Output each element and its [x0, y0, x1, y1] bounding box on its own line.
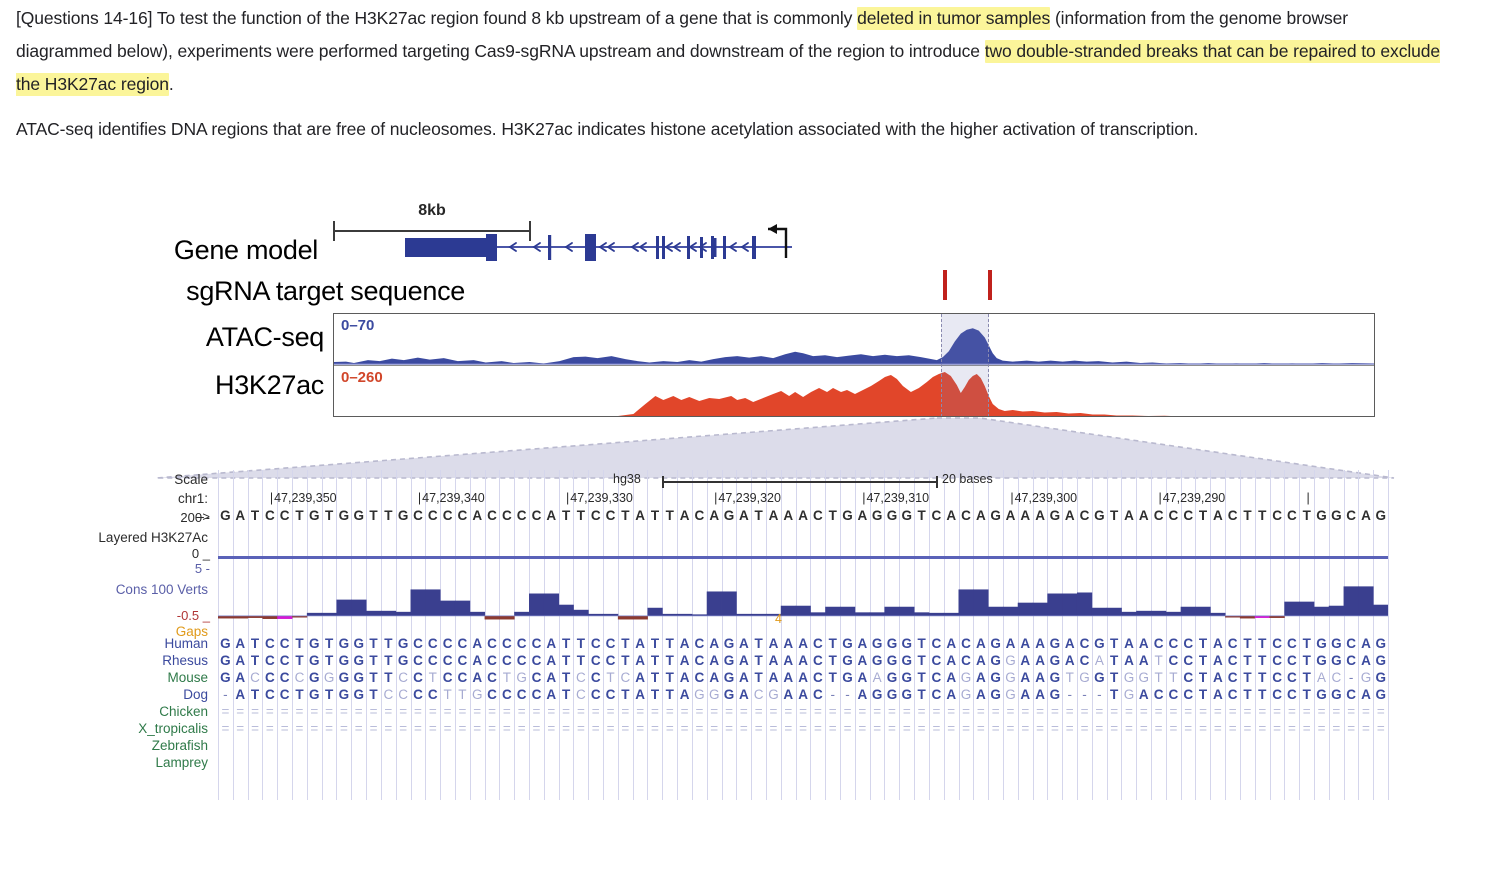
alignment-base: T: [322, 687, 337, 704]
conservation-bar: [633, 616, 648, 620]
reference-base: T: [1255, 508, 1270, 525]
alignment-base: =: [292, 704, 307, 721]
alignment-base: =: [929, 721, 944, 738]
alignment-base: =: [751, 721, 766, 738]
h3k27ac-track: 0–260: [334, 366, 1374, 417]
alignment-base: G: [337, 636, 352, 653]
alignment-base: C: [588, 653, 603, 670]
alignment-base: =: [1270, 721, 1285, 738]
conservation-bar: [796, 606, 811, 616]
reference-base: T: [366, 508, 381, 525]
alignment-base: T: [825, 670, 840, 687]
alignment-base: A: [1018, 636, 1033, 653]
alignment-base: =: [544, 704, 559, 721]
alignment-base: =: [1299, 704, 1314, 721]
alignment-base: C: [455, 636, 470, 653]
alignment-base: =: [425, 704, 440, 721]
alignment-base: =: [1255, 721, 1270, 738]
alignment-base: T: [1240, 687, 1255, 704]
alignment-base: T: [381, 653, 396, 670]
alignment-base: =: [1373, 721, 1388, 738]
alignment-base: T: [1107, 636, 1122, 653]
conservation-bar: [959, 589, 974, 615]
conservation-bar: [618, 616, 633, 620]
alignment-base: T: [1196, 670, 1211, 687]
alignment-base: G: [218, 636, 233, 653]
alignment-base: T: [618, 653, 633, 670]
alignment-base: C: [396, 670, 411, 687]
alignment-base: T: [825, 636, 840, 653]
alignment-base: =: [322, 704, 337, 721]
reference-base: C: [692, 508, 707, 525]
conservation-bar: [381, 611, 396, 616]
alignment-base: G: [322, 670, 337, 687]
alignment-base: T: [1166, 670, 1181, 687]
alignment-base: C: [499, 636, 514, 653]
alignment-base: C: [811, 636, 826, 653]
alignment-base: G: [840, 653, 855, 670]
scale-bar-tick-left: [333, 221, 335, 241]
ruler-tick: 47,239,290: [1158, 491, 1225, 505]
alignment-base: =: [499, 721, 514, 738]
alignment-base: C: [425, 653, 440, 670]
reference-base: G: [1329, 508, 1344, 525]
alignment-base: G: [1359, 670, 1374, 687]
alignment-row-x_tropicalis: ========================================…: [218, 721, 1388, 738]
question-text-block: [Questions 14-16] To test the function o…: [16, 0, 1446, 146]
alignment-base: =: [248, 704, 263, 721]
label-sgrna-target-sequence: sgRNA target sequence: [0, 276, 465, 307]
alignment-base: T: [1151, 653, 1166, 670]
alignment-base: T: [499, 670, 514, 687]
alignment-base: C: [396, 687, 411, 704]
reference-base: A: [781, 508, 796, 525]
conservation-bar: [544, 594, 559, 616]
reference-base: C: [1225, 508, 1240, 525]
alignment-base: C: [499, 653, 514, 670]
alignment-base: G: [1122, 670, 1137, 687]
layered-h3k27ac-track-label: Layered H3K27Ac: [48, 530, 208, 545]
alignment-base: =: [1151, 721, 1166, 738]
alignment-base: A: [1018, 687, 1033, 704]
alignment-base: G: [307, 653, 322, 670]
alignment-base: =: [736, 721, 751, 738]
alignment-base: =: [648, 704, 663, 721]
alignment-base: A: [677, 687, 692, 704]
alignment-base: C: [811, 653, 826, 670]
alignment-base: G: [885, 687, 900, 704]
alignment-base: G: [337, 653, 352, 670]
alignment-base: C: [411, 687, 426, 704]
conservation-bar: [366, 611, 381, 616]
alignment-base: A: [1062, 636, 1077, 653]
alignment-base: -: [1062, 687, 1077, 704]
alignment-base: T: [574, 653, 589, 670]
reference-base: G: [351, 508, 366, 525]
alignment-base: =: [455, 704, 470, 721]
conservation-bar: [1033, 603, 1048, 616]
alignment-base: T: [914, 670, 929, 687]
alignment-base: T: [1151, 670, 1166, 687]
alignment-base: G: [1003, 670, 1018, 687]
alignment-base: T: [751, 636, 766, 653]
alignment-base: G: [722, 653, 737, 670]
alignment-base: A: [973, 636, 988, 653]
question-paragraph-1: [Questions 14-16] To test the function o…: [16, 2, 1446, 101]
alignment-base: G: [396, 653, 411, 670]
alignment-base: G: [722, 636, 737, 653]
gene-model-svg: [400, 224, 800, 266]
reference-base: C: [959, 508, 974, 525]
reference-base: A: [796, 508, 811, 525]
alignment-base: A: [677, 636, 692, 653]
alignment-base: =: [292, 721, 307, 738]
alignment-base: -: [825, 687, 840, 704]
scale-bar-label: 8kb: [333, 202, 531, 220]
alignment-base: C: [929, 653, 944, 670]
reference-base: G: [337, 508, 352, 525]
alignment-base: =: [440, 704, 455, 721]
conservation-bar: [1358, 586, 1373, 616]
alignment-base: A: [233, 636, 248, 653]
alignment-base: C: [499, 687, 514, 704]
alignment-base: =: [588, 721, 603, 738]
alignment-base: T: [559, 653, 574, 670]
alignment-base: T: [1240, 636, 1255, 653]
alignment-base: C: [1329, 670, 1344, 687]
conservation-bar: [1284, 602, 1299, 616]
alignment-base: A: [677, 670, 692, 687]
alignment-base: =: [366, 721, 381, 738]
reference-base: C: [514, 508, 529, 525]
alignment-base: T: [381, 670, 396, 687]
alignment-base: =: [1003, 721, 1018, 738]
alignment-base: =: [411, 704, 426, 721]
alignment-base: T: [618, 636, 633, 653]
alignment-base: =: [1314, 721, 1329, 738]
alignment-base: C: [485, 670, 500, 687]
alignment-base: T: [648, 636, 663, 653]
alignment-base: =: [959, 721, 974, 738]
alignment-base: A: [973, 687, 988, 704]
cons-100-verts-track-label: Cons 100 Verts: [48, 582, 208, 597]
conservation-bar: [529, 594, 544, 616]
alignment-base: C: [1181, 687, 1196, 704]
conservation-bar: [499, 616, 514, 620]
alignment-base: A: [1210, 687, 1225, 704]
reference-base: T: [914, 508, 929, 525]
alignment-base: =: [1373, 704, 1388, 721]
alignment-base: G: [707, 687, 722, 704]
reference-base: C: [529, 508, 544, 525]
alignment-base: =: [351, 721, 366, 738]
atac-seq-range-label: 0–70: [341, 317, 374, 334]
alignment-base: C: [603, 687, 618, 704]
alignment-base: C: [1344, 653, 1359, 670]
species-label-zebrafish: Zebrafish: [48, 738, 208, 753]
reference-base: T: [1299, 508, 1314, 525]
conservation-bar: [1062, 594, 1077, 616]
alignment-base: T: [1107, 687, 1122, 704]
alignment-base: =: [870, 721, 885, 738]
conservation-bar: [707, 591, 722, 615]
alignment-base: =: [559, 704, 574, 721]
alignment-base: G: [1329, 636, 1344, 653]
conservation-bar: [914, 612, 929, 616]
conservation-bar: [425, 589, 440, 615]
alignment-base: C: [277, 687, 292, 704]
reference-base: T: [574, 508, 589, 525]
reference-base: A: [1003, 508, 1018, 525]
alignment-base: C: [1285, 636, 1300, 653]
alignment-base: T: [914, 636, 929, 653]
conservation-bar: [810, 612, 825, 616]
alignment-base: =: [707, 721, 722, 738]
alignment-base: G: [307, 636, 322, 653]
alignment-base: C: [529, 670, 544, 687]
alignment-base: G: [1048, 670, 1063, 687]
alignment-base: A: [944, 653, 959, 670]
alignment-base: =: [588, 704, 603, 721]
alignment-base: G: [1373, 653, 1388, 670]
alignment-base: A: [781, 636, 796, 653]
reference-base: T: [292, 508, 307, 525]
alignment-base: =: [277, 704, 292, 721]
alignment-base: =: [1255, 704, 1270, 721]
alignment-base: C: [588, 636, 603, 653]
conservation-bar: [1166, 612, 1181, 616]
alignment-base: T: [825, 653, 840, 670]
alignment-base: C: [929, 670, 944, 687]
alignment-base: =: [914, 704, 929, 721]
alignment-base: G: [1314, 687, 1329, 704]
h3k27ac-range-label: 0–260: [341, 369, 383, 386]
alignment-base: A: [766, 670, 781, 687]
alignment-base: =: [1314, 704, 1329, 721]
alignment-base: C: [1344, 636, 1359, 653]
alignment-base: =: [499, 704, 514, 721]
conservation-bar: [514, 612, 529, 616]
alignment-base: =: [1344, 721, 1359, 738]
ruler-tick: 47,239,310: [862, 491, 929, 505]
alignment-base: A: [781, 687, 796, 704]
alignment-base: =: [1270, 704, 1285, 721]
alignment-base: =: [618, 704, 633, 721]
alignment-base: C: [959, 653, 974, 670]
alignment-base: G: [870, 687, 885, 704]
alignment-base: C: [751, 687, 766, 704]
conservation-bar: [1047, 594, 1062, 616]
alignment-base: A: [766, 653, 781, 670]
alignment-base: C: [1270, 653, 1285, 670]
conservation-bar: [1329, 606, 1344, 616]
alignment-base: A: [1359, 687, 1374, 704]
alignment-base: =: [529, 721, 544, 738]
reference-base: C: [1151, 508, 1166, 525]
alignment-base: C: [618, 670, 633, 687]
reference-base: G: [885, 508, 900, 525]
ucsc-genome-browser-detail: Scale hg38 20 bases chr1: 47,239,35047,2…: [0, 470, 1494, 800]
alignment-base: =: [1077, 704, 1092, 721]
alignment-base: =: [1122, 721, 1137, 738]
conservation-chart-svg: [218, 565, 1388, 621]
ucsc-scale-row: hg38 20 bases: [218, 472, 1388, 490]
alignment-base: =: [218, 704, 233, 721]
reference-base: T: [248, 508, 263, 525]
label-gene-model: Gene model: [0, 235, 318, 266]
alignment-base: =: [233, 721, 248, 738]
reference-base: T: [751, 508, 766, 525]
alignment-base: A: [781, 653, 796, 670]
alignment-base: A: [233, 687, 248, 704]
alignment-base: C: [411, 653, 426, 670]
alignment-base: T: [1240, 670, 1255, 687]
alignment-base: C: [1181, 653, 1196, 670]
reference-base: G: [1048, 508, 1063, 525]
alignment-base: C: [603, 636, 618, 653]
reference-base: T: [662, 508, 677, 525]
cons-axis-top-label: 5 -: [148, 561, 210, 576]
alignment-base: C: [588, 670, 603, 687]
alignment-base: C: [1270, 670, 1285, 687]
alignment-base: =: [455, 721, 470, 738]
alignment-base: C: [588, 687, 603, 704]
alignment-base: A: [796, 687, 811, 704]
alignment-base: A: [633, 670, 648, 687]
alignment-base: =: [662, 721, 677, 738]
alignment-base: T: [1299, 670, 1314, 687]
alignment-base: T: [381, 636, 396, 653]
alignment-base: =: [1166, 721, 1181, 738]
alignment-base: =: [603, 721, 618, 738]
alignment-base: =: [544, 721, 559, 738]
alignment-base: A: [870, 670, 885, 687]
alignment-base: =: [218, 721, 233, 738]
alignment-base: =: [944, 704, 959, 721]
alignment-base: =: [885, 704, 900, 721]
conservation-bar: [840, 607, 855, 616]
alignment-base: T: [292, 687, 307, 704]
reference-base: A: [233, 508, 248, 525]
alignment-base: G: [1329, 653, 1344, 670]
alignment-base: C: [1166, 653, 1181, 670]
alignment-base: =: [440, 721, 455, 738]
alignment-base: =: [722, 721, 737, 738]
conservation-bar: [884, 607, 899, 616]
alignment-base: C: [1344, 687, 1359, 704]
reference-base: T: [1196, 508, 1211, 525]
alignment-base: =: [662, 704, 677, 721]
alignment-base: T: [559, 670, 574, 687]
alignment-base: C: [381, 687, 396, 704]
alignment-base: C: [1285, 670, 1300, 687]
alignment-base: T: [1299, 636, 1314, 653]
alignment-base: =: [722, 704, 737, 721]
alignment-base: =: [1048, 704, 1063, 721]
alignment-base: =: [692, 721, 707, 738]
alignment-base: G: [1314, 653, 1329, 670]
alignment-base: A: [707, 636, 722, 653]
reference-base: T: [381, 508, 396, 525]
alignment-base: T: [440, 687, 455, 704]
conservation-bar: [351, 600, 366, 616]
conservation-bar: [1092, 608, 1107, 616]
alignment-base: C: [514, 653, 529, 670]
alignment-base: A: [470, 670, 485, 687]
reference-base: A: [677, 508, 692, 525]
alignment-base: =: [514, 721, 529, 738]
alignment-base: A: [544, 636, 559, 653]
alignment-base: T: [1196, 653, 1211, 670]
alignment-base: A: [470, 636, 485, 653]
conservation-bar: [1299, 602, 1314, 616]
conservation-bar: [411, 589, 426, 615]
alignment-base: T: [1255, 653, 1270, 670]
alignment-base: C: [262, 687, 277, 704]
alignment-base: T: [292, 636, 307, 653]
alignment-base: =: [1329, 721, 1344, 738]
coordinate-ruler: 47,239,35047,239,34047,239,33047,239,320…: [218, 491, 1388, 507]
alignment-base: =: [485, 704, 500, 721]
alignment-base: =: [1033, 704, 1048, 721]
alignment-base: =: [1359, 704, 1374, 721]
alignment-base: =: [707, 704, 722, 721]
alignment-base: T: [559, 636, 574, 653]
alignment-base: T: [1255, 670, 1270, 687]
reference-base: C: [603, 508, 618, 525]
alignment-base: A: [855, 687, 870, 704]
alignment-base: =: [337, 704, 352, 721]
alignment-base: A: [1092, 653, 1107, 670]
alignment-base: =: [411, 721, 426, 738]
alignment-base: G: [1077, 670, 1092, 687]
alignment-base: A: [781, 670, 796, 687]
alignment-base: T: [248, 653, 263, 670]
alignment-base: =: [988, 704, 1003, 721]
alignment-base: =: [1092, 704, 1107, 721]
ruler-tick: 47,239,330: [566, 491, 633, 505]
reference-base: A: [633, 508, 648, 525]
reference-base: C: [277, 508, 292, 525]
alignment-base: T: [648, 670, 663, 687]
conservation-bar: [929, 613, 944, 616]
alignment-base: T: [1107, 653, 1122, 670]
conservation-bar: [899, 607, 914, 616]
alignment-base: T: [1240, 653, 1255, 670]
alignment-base: T: [1107, 670, 1122, 687]
conservation-bar: [485, 616, 500, 620]
reference-base: G: [396, 508, 411, 525]
alignment-base: G: [1048, 636, 1063, 653]
reference-base: G: [840, 508, 855, 525]
conservation-bar-chart: [218, 565, 1388, 621]
atac-seq-track: 0–70: [334, 314, 1374, 366]
alignment-base: =: [337, 721, 352, 738]
alignment-base: G: [870, 636, 885, 653]
alignment-base: G: [337, 687, 352, 704]
alignment-base: A: [1359, 653, 1374, 670]
alignment-base: C: [440, 670, 455, 687]
ruler-tick: 47,239,350: [270, 491, 337, 505]
alignment-base: =: [1181, 704, 1196, 721]
alignment-base: G: [1136, 670, 1151, 687]
conservation-bar: [1107, 608, 1122, 616]
alignment-base: C: [440, 636, 455, 653]
reference-base: G: [1314, 508, 1329, 525]
alignment-base: =: [307, 704, 322, 721]
alignment-base: =: [1136, 721, 1151, 738]
reference-base: A: [855, 508, 870, 525]
